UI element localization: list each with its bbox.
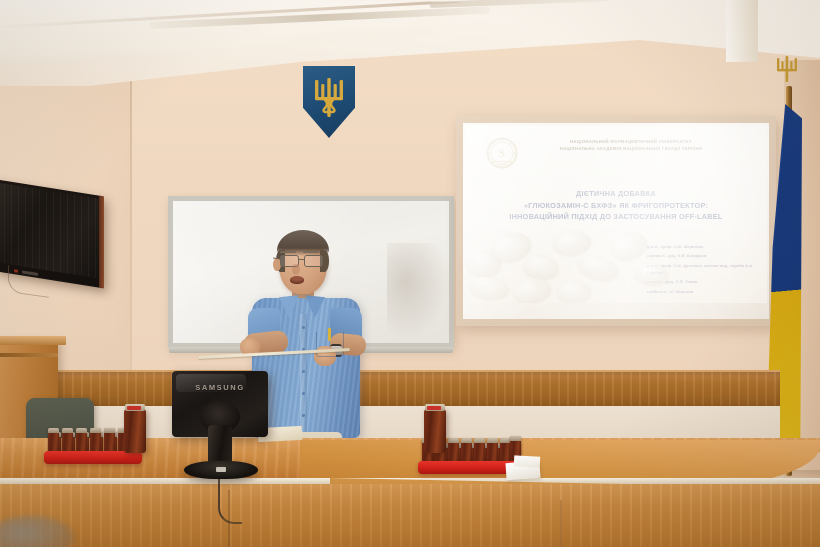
projection-screen-surface: S НАЦІОНАЛЬНИЙ ФАРМАЦЕВТИЧНИЙ УНІВЕРСИТЕ… [463, 123, 769, 319]
pill-shape [468, 274, 511, 301]
whiteboard-shadow [387, 243, 451, 339]
tryzub-icon [314, 78, 344, 118]
pill-shape [608, 228, 651, 265]
eyebrow-left [280, 251, 296, 253]
svg-text:S: S [499, 148, 505, 160]
slide-organization: НАЦІОНАЛЬНИЙ ФАРМАЦЕВТИЧНИЙ УНІВЕРСИТЕТ … [531, 139, 731, 152]
slide-title-line3: ІННОВАЦІЙНИЙ ПІДХІД ДО ЗАСТОСУВАННЯ OFF-… [471, 211, 761, 223]
eyeglasses-icon [278, 255, 328, 268]
slide-pill-imagery [465, 229, 767, 303]
large-jar-left [124, 409, 146, 453]
shirt-placket [300, 314, 307, 438]
slide-title-line1: ДІЄТИЧНА ДОБАВКА [471, 188, 761, 200]
pill-shape [521, 252, 561, 282]
large-jar-right [424, 409, 446, 453]
pill-shape [552, 229, 592, 257]
wall-panelling [0, 372, 780, 406]
lectern-top [0, 336, 66, 345]
pill-shape [511, 276, 553, 303]
monitor-base-badge [216, 467, 226, 472]
pill-shape [634, 261, 670, 286]
projection-screen-frame: S НАЦІОНАЛЬНИЙ ФАРМАЦЕВТИЧНИЙ УНІВЕРСИТЕ… [456, 116, 776, 326]
flag-tryzub-finial-icon [776, 56, 798, 82]
ukraine-coat-of-arms [303, 66, 355, 138]
slide-title: ДІЄТИЧНА ДОБАВКА «ГЛЮКОЗАМІН-С БХФЗ» ЯК … [471, 188, 761, 223]
computer-monitor: SAMSUNG [172, 371, 270, 479]
monitor-cable [218, 478, 242, 524]
pill-shape [557, 281, 591, 303]
nose [292, 264, 300, 275]
slide-title-line2: «ГЛЮКОЗАМІН-С БХФЗ» ЯК ФРИГОПРОТЕКТОР: [471, 200, 761, 212]
eyebrow-right [303, 251, 319, 253]
ceiling-column [726, 0, 758, 62]
slide-org-line2: НАЦІОНАЛЬНА АКАДЕМІЯ НАЦІОНАЛЬНОЇ ГВАРДІ… [531, 146, 731, 153]
monitor-brand-label: SAMSUNG [172, 383, 268, 392]
photograph-scene: S НАЦІОНАЛЬНИЙ ФАРМАЦЕВТИЧНИЙ УНІВЕРСИТЕ… [0, 0, 820, 547]
glasses-bridge [299, 259, 305, 260]
table-front-panel [0, 484, 820, 547]
tv-screen [0, 182, 99, 278]
university-emblem-logo-icon: S [485, 136, 519, 170]
mouth [290, 276, 304, 284]
tv-side-edge [99, 196, 104, 289]
lens-right [304, 255, 323, 267]
napkin-top [514, 455, 541, 467]
table-panel-seam [560, 500, 562, 547]
pen-icon [328, 328, 331, 341]
lectern-trim [0, 353, 58, 357]
presentation-slide: S НАЦІОНАЛЬНИЙ ФАРМАЦЕВТИЧНИЙ УНІВЕРСИТЕ… [465, 126, 767, 303]
